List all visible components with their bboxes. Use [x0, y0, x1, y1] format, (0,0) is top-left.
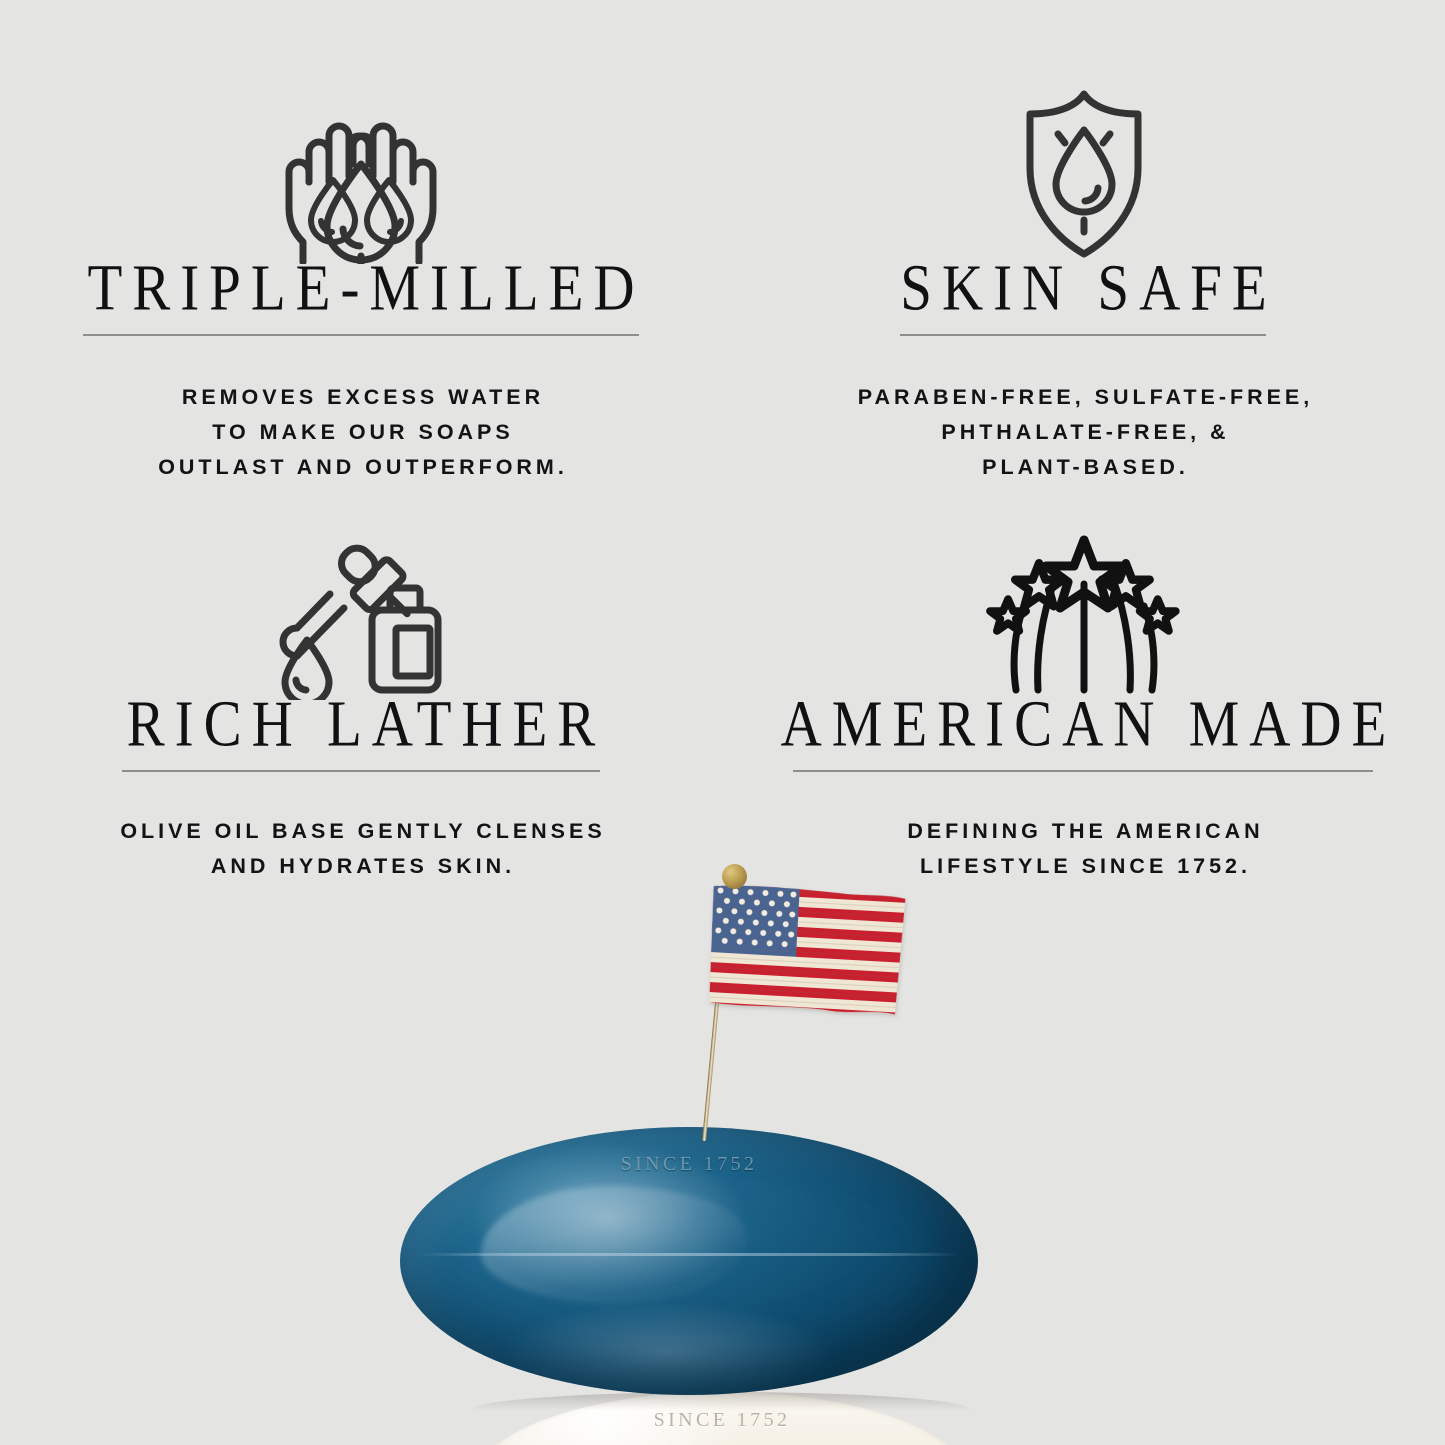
hands-water-drop-icon-wrap — [275, 96, 447, 264]
feature-rich-lather: RICH LATHER OLIVE OIL BASE GENTLY CLENSE… — [0, 528, 722, 884]
feature-triple-milled: TRIPLE-MILLED REMOVES EXCESS WATER TO MA… — [0, 96, 722, 484]
heading-block-skin-safe: SKIN SAFE — [890, 264, 1276, 336]
heading-rule — [900, 334, 1266, 336]
feature-skin-safe: SKIN SAFE PARABEN-FREE, SULFATE-FREE, PH… — [722, 78, 1445, 484]
heading-rule — [122, 770, 600, 772]
body-line: TO MAKE OUR SOAPS — [154, 415, 568, 450]
body-line: REMOVES EXCESS WATER — [154, 380, 568, 415]
shield-water-drop-icon-wrap — [1014, 78, 1154, 264]
cream-soap-emboss: SINCE 1752 — [472, 1409, 972, 1432]
american-flag — [705, 882, 910, 1023]
body-line: PHTHALATE-FREE, & — [854, 415, 1313, 450]
hands-water-drop-icon — [275, 104, 447, 264]
body-line: DEFINING THE AMERICAN — [903, 814, 1263, 849]
body-line: OLIVE OIL BASE GENTLY CLENSES — [116, 814, 605, 849]
product-photo: SINCE 1752 SINCE 1752 — [0, 855, 1445, 1445]
product-feature-infographic: TRIPLE-MILLED REMOVES EXCESS WATER TO MA… — [0, 0, 1445, 1445]
body-line: OUTLAST AND OUTPERFORM. — [154, 450, 568, 485]
fireworks-icon — [984, 532, 1184, 700]
blue-soap-emboss: SINCE 1752 — [400, 1153, 978, 1176]
flag-finial — [722, 864, 747, 889]
body-line: PLANT-BASED. — [854, 450, 1313, 485]
feature-body: REMOVES EXCESS WATER TO MAKE OUR SOAPS O… — [154, 380, 568, 484]
feature-heading: AMERICAN MADE — [771, 691, 1397, 757]
heading-rule — [793, 770, 1373, 772]
heading-rule — [83, 334, 639, 336]
dropper-bottle-icon — [272, 540, 450, 700]
feature-heading: TRIPLE-MILLED — [77, 255, 644, 321]
feature-heading: SKIN SAFE — [890, 255, 1276, 321]
heading-block-american-made: AMERICAN MADE — [771, 700, 1397, 772]
shield-water-drop-icon — [1014, 84, 1154, 264]
fireworks-icon-wrap — [984, 518, 1184, 700]
heading-block-rich-lather: RICH LATHER — [117, 700, 606, 772]
cream-soap-bar: SINCE 1752 — [472, 1392, 972, 1445]
feature-heading: RICH LATHER — [117, 691, 606, 757]
heading-block-triple-milled: TRIPLE-MILLED — [77, 264, 644, 336]
feature-american-made: AMERICAN MADE DEFINING THE AMERICAN LIFE… — [722, 518, 1445, 884]
dropper-bottle-icon-wrap — [272, 528, 450, 700]
body-line: PARABEN-FREE, SULFATE-FREE, — [854, 380, 1313, 415]
feature-body: PARABEN-FREE, SULFATE-FREE, PHTHALATE-FR… — [854, 380, 1313, 484]
blue-soap-bar: SINCE 1752 — [400, 1127, 978, 1395]
